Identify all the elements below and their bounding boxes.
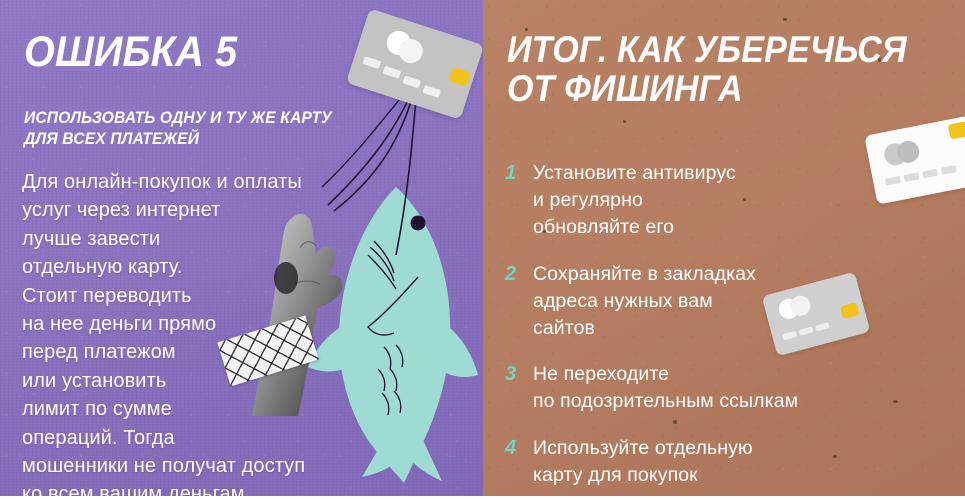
right-panel-title: ИТОГ. КАК УБЕРЕЧЬСЯ ОТ ФИШИНГА [507, 30, 907, 108]
list-item: 4 Используйте отдельную карту для покупо… [505, 435, 895, 496]
card-number-block [363, 56, 382, 69]
card-number-block [941, 165, 957, 175]
left-panel: ОШИБКА 5 ИСПОЛЬЗОВАТЬ ОДНУ И ТУ ЖЕ КАРТУ… [0, 0, 483, 496]
tips-list: 1 Установите антивирус и регулярно обнов… [505, 160, 895, 496]
list-item-number: 4 [505, 435, 533, 496]
card-number-block [382, 66, 401, 79]
list-item: 1 Установите антивирус и регулярно обнов… [505, 160, 895, 241]
left-panel-body: Для онлайн-покупок и оплаты услуг через … [22, 168, 305, 496]
card-chip-icon [448, 67, 471, 87]
list-item-text: Сохраняйте в закладках адреса нужных вам… [533, 261, 756, 342]
card-number-block [922, 169, 938, 179]
texture-speck [783, 18, 787, 21]
left-panel-title: ОШИБКА 5 [24, 30, 237, 76]
list-item-number: 1 [505, 160, 533, 241]
list-item: 3 Не переходите по подозрительным ссылка… [505, 361, 895, 415]
texture-speck [623, 120, 626, 123]
card-chip-icon [948, 121, 965, 139]
right-panel: ИТОГ. КАК УБЕРЕЧЬСЯ ОТ ФИШИНГА 1 Установ… [483, 0, 965, 496]
list-item-text: Установите антивирус и регулярно обновля… [533, 160, 736, 241]
infographic-canvas: ОШИБКА 5 ИСПОЛЬЗОВАТЬ ОДНУ И ТУ ЖЕ КАРТУ… [0, 0, 965, 500]
list-item-text: Не переходите по подозрительным ссылкам [533, 361, 798, 415]
list-item: 2 Сохраняйте в закладках адреса нужных в… [505, 261, 895, 342]
list-item-number: 2 [505, 261, 533, 342]
list-item-text: Используйте отдельную карту для покупок … [533, 435, 753, 496]
left-panel-subtitle: ИСПОЛЬЗОВАТЬ ОДНУ И ТУ ЖЕ КАРТУ ДЛЯ ВСЕХ… [24, 108, 332, 151]
list-item-number: 3 [505, 361, 533, 415]
card-number-block [422, 85, 441, 98]
card-number-block [904, 172, 920, 182]
card-number-block [402, 75, 421, 88]
bottom-white-strip [0, 496, 965, 500]
